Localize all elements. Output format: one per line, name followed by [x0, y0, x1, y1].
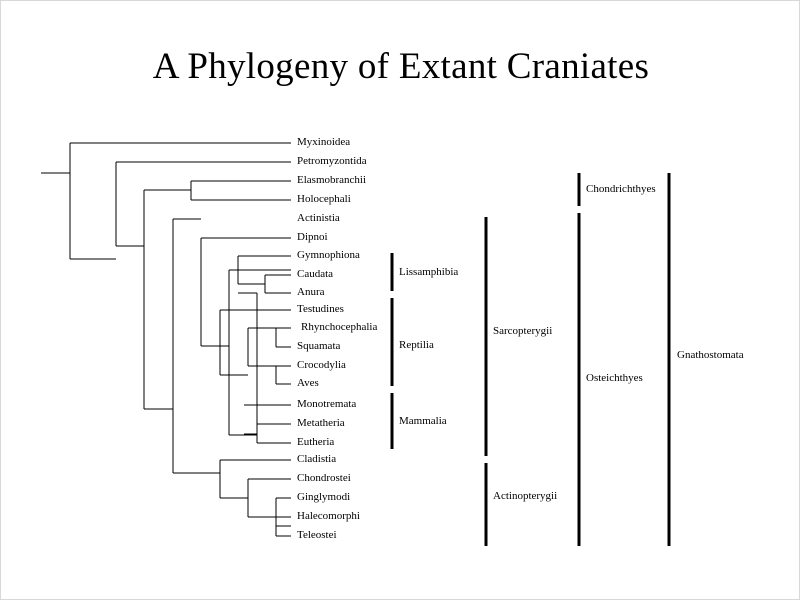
taxon-label: Eutheria: [297, 437, 334, 448]
taxon-label: Rhynchocephalia: [301, 322, 377, 333]
group-label: Gnathostomata: [677, 350, 744, 361]
phylogenetic-tree: [1, 1, 800, 601]
group-label: Actinopterygii: [493, 491, 557, 502]
group-label: Lissamphibia: [399, 267, 458, 278]
taxon-label: Squamata: [297, 341, 340, 352]
taxon-label: Elasmobranchii: [297, 175, 366, 186]
taxon-label: Actinistia: [297, 213, 340, 224]
group-label: Sarcopterygii: [493, 326, 552, 337]
taxon-label: Ginglymodi: [297, 492, 350, 503]
group-label: Mammalia: [399, 416, 447, 427]
group-label: Chondrichthyes: [586, 184, 656, 195]
taxon-label: Halecomorphi: [297, 511, 360, 522]
taxon-label: Dipnoi: [297, 232, 328, 243]
taxon-label: Crocodylia: [297, 360, 346, 371]
taxon-label: Cladistia: [297, 454, 336, 465]
taxon-label: Petromyzontida: [297, 156, 367, 167]
group-label: Reptilia: [399, 340, 434, 351]
taxon-label: Caudata: [297, 269, 333, 280]
tree-branches: [41, 143, 291, 536]
taxon-label: Holocephali: [297, 194, 351, 205]
taxon-label: Metatheria: [297, 418, 345, 429]
taxon-label: Anura: [297, 287, 325, 298]
slide-canvas: A Phylogeny of Extant Craniates: [0, 0, 800, 600]
taxon-label: Gymnophiona: [297, 250, 360, 261]
taxon-label: Testudines: [297, 304, 344, 315]
taxon-label: Myxinoidea: [297, 137, 350, 148]
taxon-label: Chondrostei: [297, 473, 351, 484]
group-label: Osteichthyes: [586, 373, 643, 384]
taxon-label: Aves: [297, 378, 319, 389]
taxon-label: Teleostei: [297, 530, 337, 541]
taxon-label: Monotremata: [297, 399, 356, 410]
